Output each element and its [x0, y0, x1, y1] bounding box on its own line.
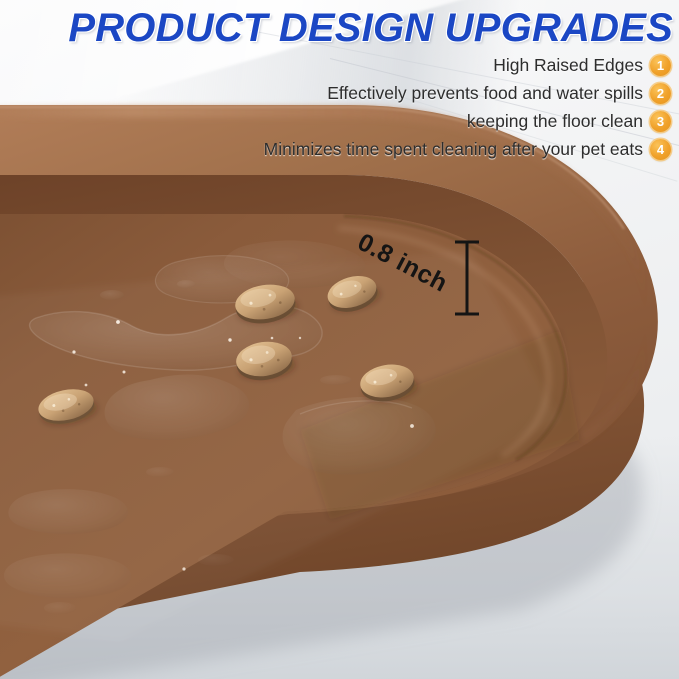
feature-row-4: Minimizes time spent cleaning after your… — [264, 136, 671, 162]
feature-number-4: 4 — [657, 143, 664, 156]
feature-number-badge-4: 4 — [650, 139, 671, 160]
page-title: PRODUCT DESIGN UPGRADES — [0, 6, 673, 51]
feature-label-2: Effectively prevents food and water spil… — [327, 83, 643, 104]
product-feature-image: 0.8 inch PRODUCT DESIGN UPGRADES High Ra… — [0, 0, 679, 679]
feature-row-1: High Raised Edges 1 — [493, 52, 671, 78]
height-dimension-bracket — [452, 236, 482, 320]
feature-label-3: keeping the floor clean — [467, 111, 643, 132]
feature-number-badge-3: 3 — [650, 111, 671, 132]
feature-number-2: 2 — [657, 87, 664, 100]
feature-row-2: Effectively prevents food and water spil… — [327, 80, 671, 106]
feature-number-1: 1 — [657, 59, 664, 72]
feature-number-badge-2: 2 — [650, 83, 671, 104]
feature-label-1: High Raised Edges — [493, 55, 643, 76]
feature-list: High Raised Edges 1 Effectively prevents… — [264, 52, 671, 162]
feature-number-badge-1: 1 — [650, 55, 671, 76]
feature-number-3: 3 — [657, 115, 664, 128]
feature-row-3: keeping the floor clean 3 — [467, 108, 671, 134]
feature-label-4: Minimizes time spent cleaning after your… — [264, 139, 643, 160]
